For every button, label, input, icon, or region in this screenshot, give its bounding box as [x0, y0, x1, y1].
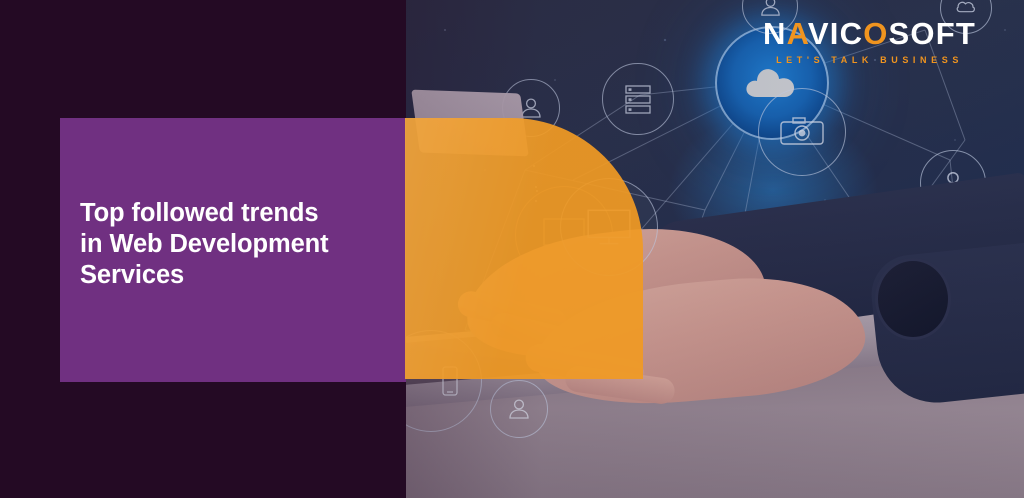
server-icon: [621, 82, 655, 116]
node-server: [602, 63, 674, 135]
banner: Top followed trends in Web Development S…: [0, 0, 1024, 498]
logo-part-n: N: [763, 16, 787, 51]
logo-wordmark: NAVICOSOFT: [763, 18, 976, 49]
person-icon: [506, 396, 532, 422]
node-camera: [758, 88, 846, 176]
logo-tagline: LET'S TALK BUSINESS: [763, 55, 976, 65]
page-title: Top followed trends in Web Development S…: [80, 198, 400, 291]
logo-part-o-accent: O: [863, 16, 888, 51]
headline-line-1: Top followed trends: [80, 198, 400, 229]
logo-part-a-accent: A: [787, 16, 808, 51]
headline-line-3: Services: [80, 260, 400, 291]
node-person-bottom: [490, 380, 548, 438]
brand-logo[interactable]: NAVICOSOFT LET'S TALK BUSINESS: [763, 18, 976, 65]
logo-part-vic: VIC: [808, 16, 863, 51]
logo-part-soft: SOFT: [889, 16, 976, 51]
wristwatch: [875, 258, 951, 340]
headline-line-2: in Web Development: [80, 229, 400, 260]
camera-icon: [778, 114, 826, 150]
